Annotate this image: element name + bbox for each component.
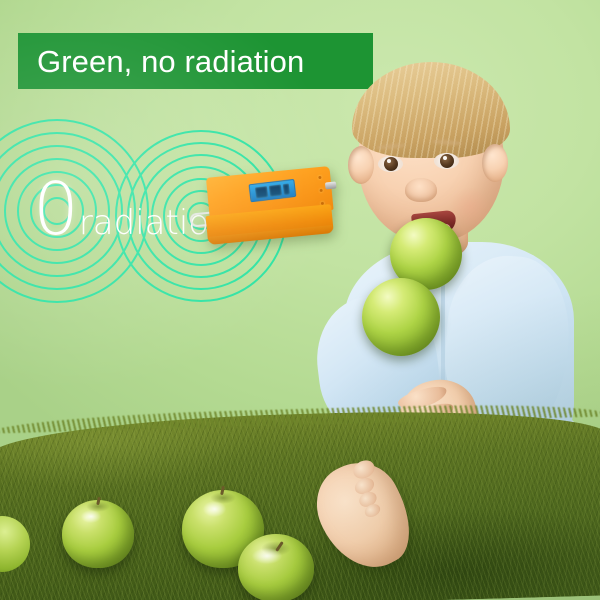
baby-ear-right (482, 144, 508, 182)
baby-hair (352, 62, 510, 158)
zero-digit: 0 (33, 176, 78, 242)
lcd-segment (269, 184, 282, 196)
ground-apple (238, 534, 314, 600)
zero-radiation-text: 0 radiation (33, 176, 231, 242)
held-apple-hand (362, 278, 440, 356)
ground-apple (62, 500, 134, 568)
banner-image: Green, no radiation 0 radiation (0, 0, 600, 600)
lcd-segment (283, 183, 290, 195)
apple-highlight (81, 510, 101, 524)
baby-eye-right (434, 153, 459, 169)
lcd-segment (255, 186, 268, 198)
apple-highlight (252, 548, 282, 564)
baby-ear-left (348, 146, 374, 184)
device-lcd-display (249, 179, 297, 202)
baby-nose (405, 178, 437, 202)
headline-text: Green, no radiation (37, 46, 304, 77)
baby-eye-left (378, 156, 403, 172)
apple-highlight (203, 501, 226, 517)
